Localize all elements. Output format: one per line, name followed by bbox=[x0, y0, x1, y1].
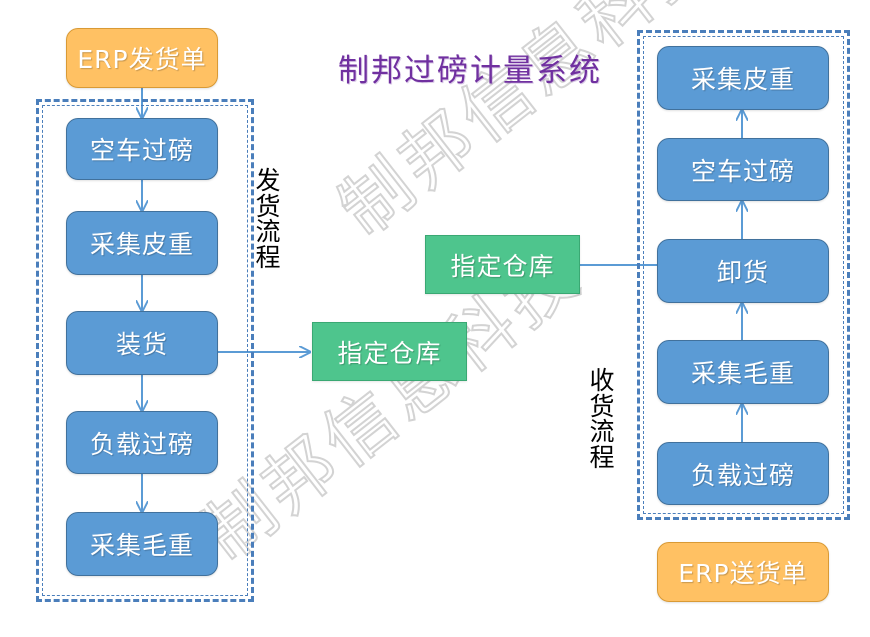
node-label: ERP发货单 bbox=[77, 40, 206, 76]
node-receiving-collect-gross[interactable]: 采集毛重 bbox=[657, 340, 829, 404]
node-label: 卸货 bbox=[717, 253, 769, 289]
node-label: 装货 bbox=[116, 325, 168, 361]
node-label: 采集皮重 bbox=[90, 225, 194, 261]
node-label: ERP送货单 bbox=[678, 554, 807, 590]
node-label: 指定仓库 bbox=[450, 247, 554, 283]
node-label: 采集皮重 bbox=[691, 60, 795, 96]
node-shipping-collect-gross[interactable]: 采集毛重 bbox=[66, 512, 218, 576]
node-shipping-designated-warehouse[interactable]: 指定仓库 bbox=[312, 322, 467, 381]
node-shipping-loading[interactable]: 装货 bbox=[66, 311, 218, 375]
node-label: 空车过磅 bbox=[90, 131, 194, 167]
receiving-flow-label: 收货流程 bbox=[585, 368, 619, 470]
node-label: 负载过磅 bbox=[90, 425, 194, 461]
node-receiving-collect-tare[interactable]: 采集皮重 bbox=[657, 46, 829, 110]
node-receiving-unloading[interactable]: 卸货 bbox=[657, 239, 829, 303]
node-receiving-designated-warehouse[interactable]: 指定仓库 bbox=[425, 235, 580, 294]
node-label: 采集毛重 bbox=[691, 354, 795, 390]
diagram-canvas: 制邦信息科技 制邦信息科技 bbox=[0, 0, 870, 637]
node-label: 负载过磅 bbox=[691, 456, 795, 492]
node-label: 指定仓库 bbox=[337, 334, 441, 370]
node-erp-delivery-order[interactable]: ERP送货单 bbox=[657, 542, 829, 602]
node-shipping-collect-tare[interactable]: 采集皮重 bbox=[66, 211, 218, 275]
node-label: 采集毛重 bbox=[90, 526, 194, 562]
page-title: 制邦过磅计量系统 bbox=[338, 45, 602, 90]
node-shipping-empty-weigh[interactable]: 空车过磅 bbox=[66, 118, 218, 180]
node-receiving-loaded-weigh[interactable]: 负载过磅 bbox=[657, 442, 829, 505]
shipping-flow-label: 发货流程 bbox=[251, 168, 285, 270]
node-erp-shipping-order[interactable]: ERP发货单 bbox=[66, 28, 218, 88]
node-receiving-empty-weigh[interactable]: 空车过磅 bbox=[657, 138, 829, 201]
node-shipping-loaded-weigh[interactable]: 负载过磅 bbox=[66, 411, 218, 474]
node-label: 空车过磅 bbox=[691, 152, 795, 188]
